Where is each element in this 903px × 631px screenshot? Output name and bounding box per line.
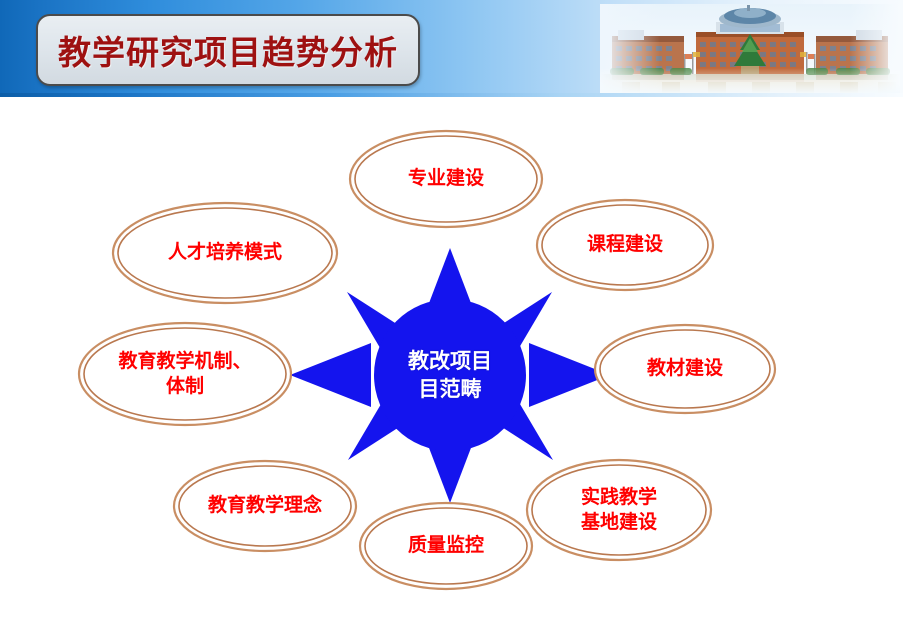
node-ellipse-jiaoyu-linian <box>174 461 356 551</box>
campus-building-photo <box>600 4 900 94</box>
node-ellipse-shijian-jidi <box>527 460 711 560</box>
node-ellipse-rencai-peiyang <box>113 203 337 303</box>
hub-and-spoke-diagram: 教改项目 目范畴 专业建设 课程建设 教材建设 实践教学 基地建设 质量监控 教… <box>0 97 903 631</box>
hub-circle <box>374 299 526 451</box>
arrow-left <box>290 343 371 407</box>
slide-header-band: 教学研究项目趋势分析 <box>0 0 903 97</box>
node-ellipse-kecheng-jianshe <box>537 200 713 290</box>
slide-canvas: 教学研究项目趋势分析 <box>0 0 903 631</box>
node-ellipse-zhuanye-jianshe <box>350 131 542 227</box>
node-ellipse-jizhi-tizhi <box>79 323 291 425</box>
slide-title-plaque: 教学研究项目趋势分析 <box>36 14 420 86</box>
page-title: 教学研究项目趋势分析 <box>58 26 398 74</box>
node-ellipse-jiaocai-jianshe <box>595 325 775 413</box>
node-ellipse-zhiliang-jiankong <box>360 503 532 589</box>
